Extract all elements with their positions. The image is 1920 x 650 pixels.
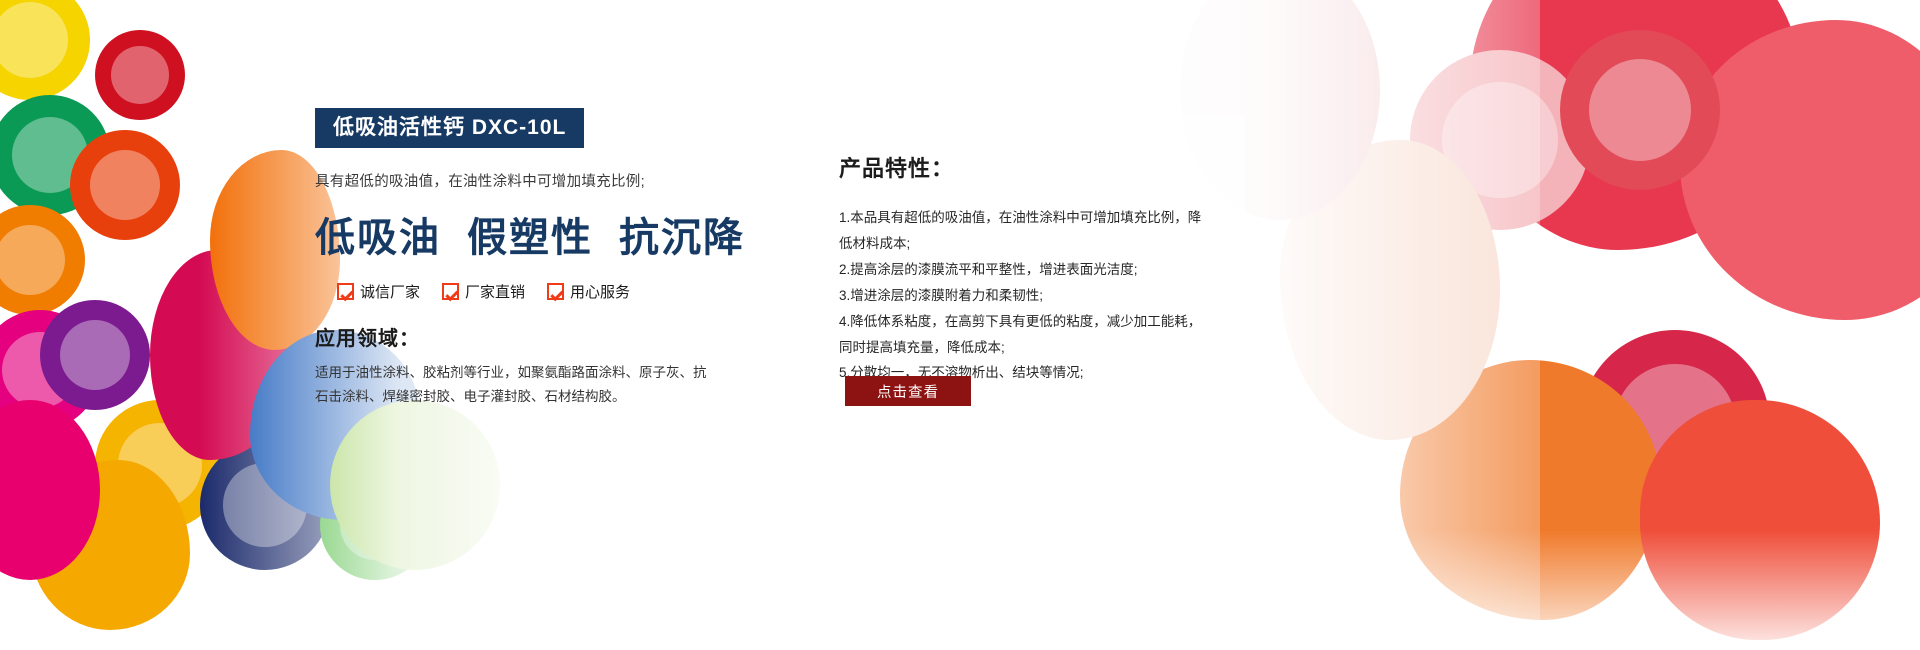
product-title-badge: 低吸油活性钙 DXC-10L <box>315 108 584 148</box>
paint-ring-red <box>95 30 185 120</box>
features-list: 1.本品具有超低的吸油值，在油性涂料中可增加填充比例，降低材料成本; 2.提高涂… <box>839 205 1211 386</box>
headline-word-2: 假塑性 <box>467 215 593 260</box>
features-panel-title: 产品特性： <box>839 151 1211 183</box>
application-section-title: 应用领域： <box>315 322 735 351</box>
right-bottom-fade <box>1120 530 1920 650</box>
headline-keywords: 低吸油假塑性抗沉降 <box>315 205 735 263</box>
paint-ring-purple <box>40 300 150 410</box>
trust-badge-1: 诚信厂家 <box>337 281 420 302</box>
trust-badge-label-2: 厂家直销 <box>465 281 525 302</box>
paint-ring-rose <box>1560 30 1720 190</box>
view-details-button[interactable]: 点击查看 <box>845 376 971 406</box>
headline-word-1: 低吸油 <box>315 215 441 260</box>
paint-ring-orange <box>0 205 85 315</box>
trust-badge-label-1: 诚信厂家 <box>360 281 420 302</box>
product-subtitle: 具有超低的吸油值，在油性涂料中可增加填充比例; <box>315 170 735 191</box>
paint-ring-vermilion <box>70 130 180 240</box>
application-section-body: 适用于油性涂料、胶粘剂等行业，如聚氨酯路面涂料、原子灰、抗石击涂料、焊缝密封胶、… <box>315 361 715 408</box>
trust-badge-row: 诚信厂家 厂家直销 用心服务 <box>337 281 735 302</box>
paint-ring-yellow <box>0 0 90 100</box>
checkbox-check-icon <box>337 283 354 300</box>
headline-word-3: 抗沉降 <box>619 215 745 260</box>
trust-badge-label-3: 用心服务 <box>570 281 630 302</box>
left-content-column: 低吸油活性钙 DXC-10L 具有超低的吸油值，在油性涂料中可增加填充比例; 低… <box>315 108 735 408</box>
promo-banner: 低吸油活性钙 DXC-10L 具有超低的吸油值，在油性涂料中可增加填充比例; 低… <box>0 0 1920 650</box>
feature-item-1: 1.本品具有超低的吸油值，在油性涂料中可增加填充比例，降低材料成本; <box>839 205 1211 257</box>
feature-item-3: 3.增进涂层的漆膜附着力和柔韧性; <box>839 283 1211 309</box>
trust-badge-2: 厂家直销 <box>442 281 525 302</box>
feature-item-4: 4.降低体系粘度，在高剪下具有更低的粘度，减少加工能耗，同时提高填充量，降低成本… <box>839 309 1211 361</box>
checkbox-check-icon <box>547 283 564 300</box>
feature-item-2: 2.提高涂层的漆膜流平和平整性，增进表面光洁度; <box>839 257 1211 283</box>
trust-badge-3: 用心服务 <box>547 281 630 302</box>
checkbox-check-icon <box>442 283 459 300</box>
